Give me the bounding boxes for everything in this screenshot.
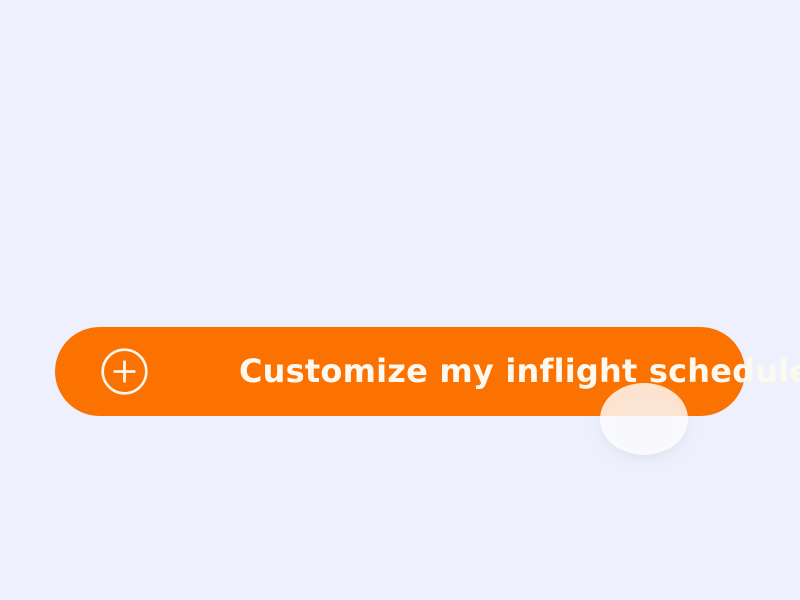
- canvas: Customize my inflight schedule: [0, 0, 800, 600]
- customize-inflight-schedule-label: Customize my inflight schedule: [239, 327, 800, 416]
- plus-circle-icon: [101, 348, 148, 395]
- drag-handle-knob[interactable]: [600, 383, 688, 455]
